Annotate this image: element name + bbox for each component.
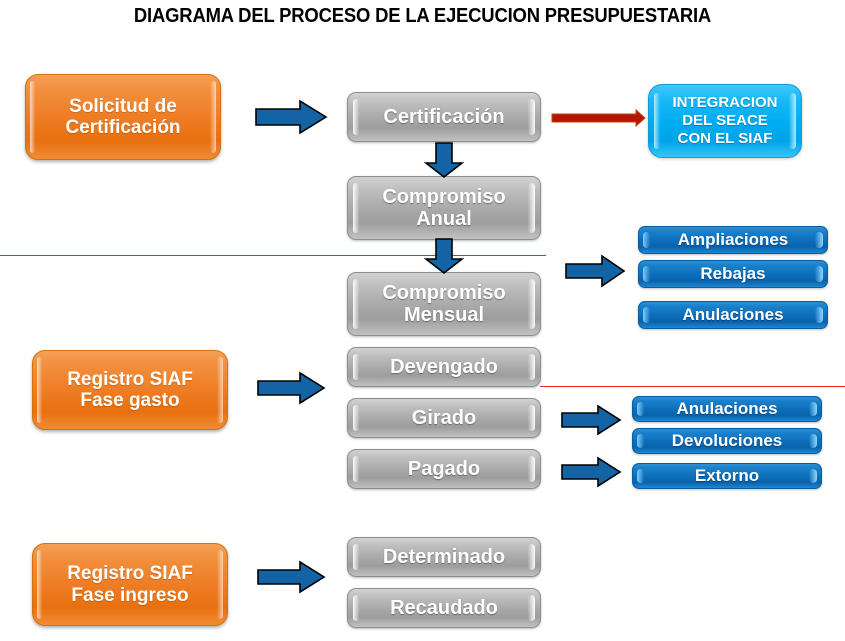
node-ampliaciones[interactable]: Ampliaciones <box>638 226 828 254</box>
arrow-certificacion-to-seace-icon <box>552 110 646 126</box>
node-girado[interactable]: Girado <box>347 398 541 438</box>
node-anulaciones-modificaciones[interactable]: Anulaciones <box>638 301 828 329</box>
node-label: Girado <box>412 407 476 429</box>
node-devengado[interactable]: Devengado <box>347 347 541 387</box>
arrow-compromiso-mensual-to-modificaciones-icon <box>566 256 626 286</box>
node-extorno[interactable]: Extorno <box>632 463 822 489</box>
arrow-girado-to-anulaciones-icon <box>562 406 622 434</box>
node-label: Recaudado <box>390 597 498 619</box>
arrow-compromiso-anual-to-mensual-icon <box>424 239 464 274</box>
node-registro-siaf-fase-gasto[interactable]: Registro SIAF Fase gasto <box>32 350 228 430</box>
page-title: DIAGRAMA DEL PROCESO DE LA EJECUCION PRE… <box>42 4 803 28</box>
node-label: Anulaciones <box>676 399 777 418</box>
arrow-solicitud-to-certificacion-icon <box>256 101 328 133</box>
node-label: Registro SIAF Fase ingreso <box>67 563 193 606</box>
arrow-fase-gasto-to-devengado-icon <box>258 373 326 403</box>
diagram-canvas: DIAGRAMA DEL PROCESO DE LA EJECUCION PRE… <box>0 0 845 641</box>
node-label: Certificación <box>383 106 504 128</box>
node-determinado[interactable]: Determinado <box>347 537 541 577</box>
node-integracion-seace-siaf[interactable]: INTEGRACION DEL SEACE CON EL SIAF <box>648 84 802 158</box>
node-compromiso-mensual[interactable]: Compromiso Mensual <box>347 272 541 336</box>
node-compromiso-anual[interactable]: Compromiso Anual <box>347 176 541 240</box>
node-label: Anulaciones <box>682 305 783 324</box>
node-label: Rebajas <box>700 264 765 283</box>
arrow-pagado-to-extorno-icon <box>562 458 622 486</box>
node-pagado[interactable]: Pagado <box>347 449 541 489</box>
node-certificacion[interactable]: Certificación <box>347 92 541 142</box>
node-label: Extorno <box>695 466 759 485</box>
red-divider-line-lower <box>540 386 845 387</box>
node-registro-siaf-fase-ingreso[interactable]: Registro SIAF Fase ingreso <box>32 543 228 626</box>
red-divider-line-upper <box>0 255 546 256</box>
arrow-fase-ingreso-to-determinado-icon <box>258 562 326 592</box>
node-label: Devengado <box>390 356 498 378</box>
node-label: Solicitud de Certificación <box>65 96 180 139</box>
node-label: INTEGRACION DEL SEACE CON EL SIAF <box>673 94 778 149</box>
node-label: Determinado <box>383 546 505 568</box>
node-label: Pagado <box>408 458 480 480</box>
node-label: Devoluciones <box>672 431 783 450</box>
node-rebajas[interactable]: Rebajas <box>638 260 828 288</box>
node-label: Compromiso Anual <box>382 186 505 231</box>
node-recaudado[interactable]: Recaudado <box>347 588 541 628</box>
node-devoluciones[interactable]: Devoluciones <box>632 428 822 454</box>
node-label: Ampliaciones <box>678 230 789 249</box>
arrow-certificacion-to-compromiso-anual-icon <box>424 143 464 178</box>
node-anulaciones-girado[interactable]: Anulaciones <box>632 396 822 422</box>
node-label: Compromiso Mensual <box>382 282 505 327</box>
node-solicitud-certificacion[interactable]: Solicitud de Certificación <box>25 74 221 160</box>
node-label: Registro SIAF Fase gasto <box>67 369 193 412</box>
